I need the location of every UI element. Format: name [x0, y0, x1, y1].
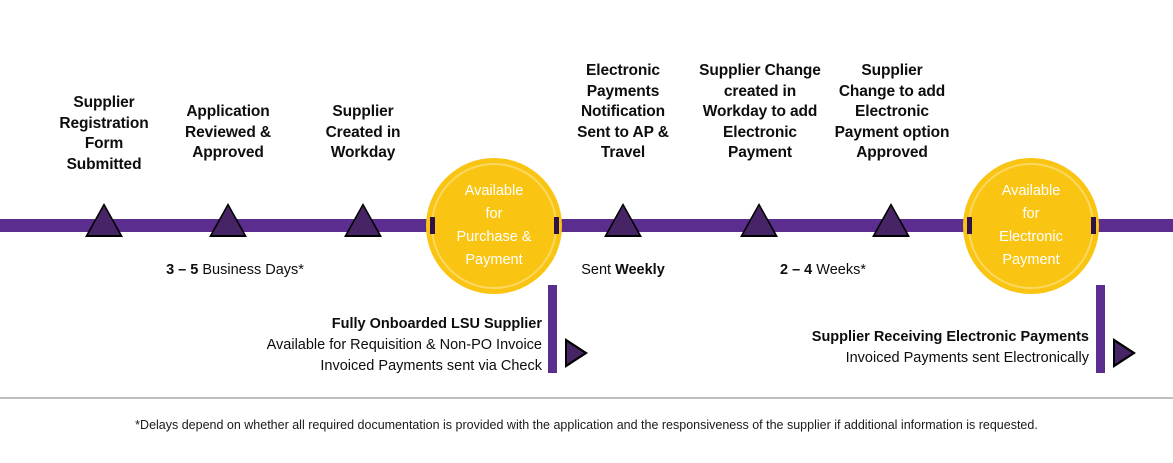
duration-label-sent-weekly: Sent Weekly [543, 261, 703, 279]
footer-divider [0, 397, 1173, 399]
callout-bar-supplier-receiving-electronic-payments [1096, 285, 1105, 373]
footnote-text: *Delays depend on whether all required d… [0, 417, 1173, 433]
duration-unit: Weeks* [812, 262, 866, 278]
milestone-marker-supplier-registration-form-submitted [85, 203, 123, 237]
status-circle-available-for-purchase-payment: AvailableforPurchase &Payment [426, 158, 562, 294]
timeline-tick-right-circle-end [1091, 217, 1096, 234]
timeline-tick-left-circle-start [430, 217, 435, 234]
callout-arrow-supplier-receiving-electronic-payments [1113, 338, 1136, 368]
callout-subtitle-1: Available for Requisition & Non-PO Invoi… [242, 335, 542, 356]
milestone-marker-electronic-payments-notification [604, 203, 642, 237]
timeline-diagram: SupplierRegistrationFormSubmitted Applic… [0, 0, 1173, 463]
milestone-marker-supplier-change-created-in-workday [740, 203, 778, 237]
milestone-label-supplier-registration-form-submitted: SupplierRegistrationFormSubmitted [34, 93, 174, 175]
duration-value: 2 – 4 [780, 262, 812, 278]
timeline-tick-left-circle-end [554, 217, 559, 234]
milestone-label-supplier-change-created-in-workday: Supplier Changecreated inWorkday to addE… [687, 61, 833, 164]
milestone-label-electronic-payments-notification: ElectronicPaymentsNotificationSent to AP… [551, 61, 695, 164]
callout-text-supplier-receiving-electronic-payments: Supplier Receiving Electronic Payments I… [789, 327, 1089, 369]
duration-label-two-to-four-weeks: 2 – 4 Weeks* [743, 261, 903, 279]
duration-unit: Business Days* [198, 262, 304, 278]
milestone-marker-supplier-change-to-add-electronic-payment-option [872, 203, 910, 237]
milestone-label-application-reviewed-approved: ApplicationReviewed &Approved [158, 102, 298, 164]
timeline-tick-right-circle-start [967, 217, 972, 234]
callout-title: Supplier Receiving Electronic Payments [789, 327, 1089, 348]
milestone-marker-supplier-created-in-workday [344, 203, 382, 237]
callout-title: Fully Onboarded LSU Supplier [242, 314, 542, 335]
status-circle-text: AvailableforPurchase &Payment [449, 180, 540, 272]
duration-prefix: Sent [581, 262, 615, 278]
callout-arrow-fully-onboarded-lsu-supplier [565, 338, 588, 368]
duration-value: 3 – 5 [166, 262, 198, 278]
callout-bar-fully-onboarded-lsu-supplier [548, 285, 557, 373]
callout-subtitle-1: Invoiced Payments sent Electronically [789, 348, 1089, 369]
milestone-label-supplier-created-in-workday: SupplierCreated inWorkday [293, 102, 433, 164]
duration-value: Weekly [615, 262, 665, 278]
duration-label-three-to-five-business-days: 3 – 5 Business Days* [135, 261, 335, 279]
callout-text-fully-onboarded-lsu-supplier: Fully Onboarded LSU Supplier Available f… [242, 314, 542, 377]
milestone-marker-application-reviewed-approved [209, 203, 247, 237]
status-circle-available-for-electronic-payment: AvailableforElectronicPayment [963, 158, 1099, 294]
status-circle-text: AvailableforElectronicPayment [991, 180, 1071, 272]
callout-subtitle-2: Invoiced Payments sent via Check [242, 356, 542, 377]
milestone-label-supplier-change-to-add-electronic-payment-option: SupplierChange to addElectronicPayment o… [818, 61, 966, 164]
